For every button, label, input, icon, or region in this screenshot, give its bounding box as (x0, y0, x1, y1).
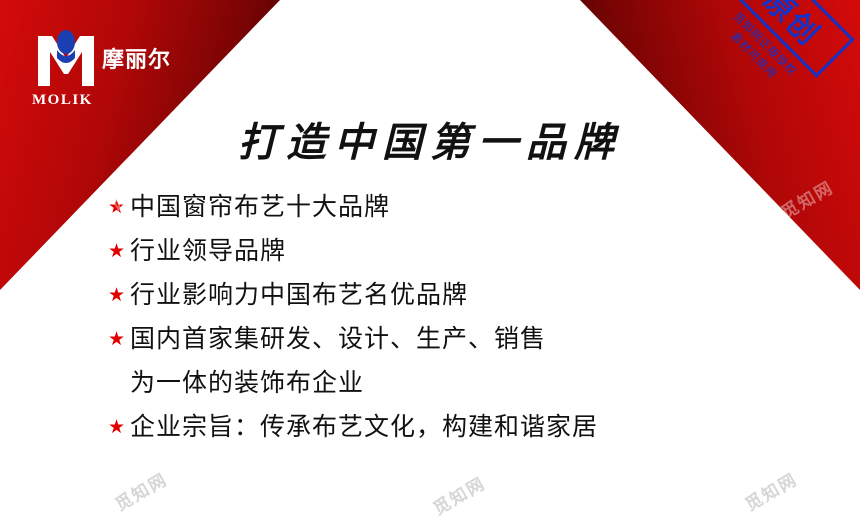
list-item: ★ 行业影响力中国布艺名优品牌 (108, 280, 808, 310)
list-item: ★ 国内首家集研发、设计、生产、销售 (108, 324, 808, 354)
list-item-continuation: ★ 为一体的装饰布企业 (108, 368, 808, 398)
list-item: ★ 企业宗旨：传承布艺文化，构建和谐家居 (108, 412, 808, 442)
star-icon: ★ (108, 412, 130, 442)
list-item-label: 行业影响力中国布艺名优品牌 (130, 280, 468, 310)
list-item-label: 企业宗旨：传承布艺文化，构建和谐家居 (130, 412, 598, 442)
list-item: ★ 行业领导品牌 (108, 236, 808, 266)
list-item-label: 国内首家集研发、设计、生产、销售 (130, 324, 546, 354)
business-card-canvas: 摩丽尔 MOLIK 原创 觅知网正版授权 素材可商用 打造中国第一品牌 ★ 中国… (0, 0, 860, 516)
star-icon: ★ (108, 280, 130, 310)
watermark: 觅知网 (428, 469, 490, 516)
watermark: 觅知网 (740, 465, 802, 515)
list-item-label: 为一体的装饰布企业 (130, 368, 364, 398)
star-icon: ★ (108, 192, 130, 222)
list-item-label: 中国窗帘布艺十大品牌 (130, 192, 390, 222)
star-icon: ★ (108, 236, 130, 266)
list-item: ★ 中国窗帘布艺十大品牌 (108, 192, 808, 222)
list-item-label: 行业领导品牌 (130, 236, 286, 266)
star-icon: ★ (108, 324, 130, 354)
headline: 打造中国第一品牌 (0, 110, 860, 168)
logo-chinese-name: 摩丽尔 (102, 42, 171, 74)
molik-m-logo-icon (34, 28, 98, 90)
watermark: 觅知网 (110, 465, 172, 515)
logo-english-name: MOLIK (32, 92, 93, 109)
brand-logo: 摩丽尔 MOLIK (26, 26, 166, 118)
bullet-list: ★ 中国窗帘布艺十大品牌 ★ 行业领导品牌 ★ 行业影响力中国布艺名优品牌 ★ … (108, 192, 808, 456)
